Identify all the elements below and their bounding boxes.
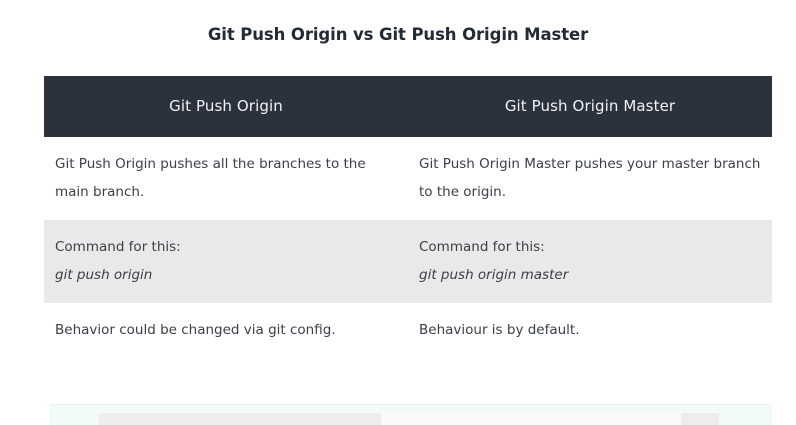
table-cell-description-left: Git Push Origin pushes all the branches … — [44, 137, 408, 220]
table-row: Command for this: git push origin Comman… — [44, 220, 772, 303]
page-root: Git Push Origin vs Git Push Origin Maste… — [0, 0, 796, 425]
command-code-right: git push origin master — [419, 261, 761, 289]
table-head: Git Push Origin Git Push Origin Master — [44, 76, 772, 137]
table-row: Git Push Origin pushes all the branches … — [44, 137, 772, 220]
table-cell-behavior-right: Behaviour is by default. — [408, 303, 772, 358]
column-header-git-push-origin: Git Push Origin — [44, 76, 408, 137]
table-row: Behavior could be changed via git config… — [44, 303, 772, 358]
table-cell-command-right: Command for this: git push origin master — [408, 220, 772, 303]
table-body: Git Push Origin pushes all the branches … — [44, 137, 772, 358]
table-cell-command-left: Command for this: git push origin — [44, 220, 408, 303]
table-header-row: Git Push Origin Git Push Origin Master — [44, 76, 772, 137]
table-cell-description-right: Git Push Origin Master pushes your maste… — [408, 137, 772, 220]
command-code-left: git push origin — [55, 261, 397, 289]
command-label-left: Command for this: — [55, 233, 397, 261]
table-cell-behavior-left: Behavior could be changed via git config… — [44, 303, 408, 358]
column-header-git-push-origin-master: Git Push Origin Master — [408, 76, 772, 137]
footer-panel-band-light — [381, 413, 681, 425]
comparison-table: Git Push Origin Git Push Origin Master G… — [44, 76, 772, 358]
footer-panel — [50, 404, 772, 425]
page-title: Git Push Origin vs Git Push Origin Maste… — [0, 24, 796, 46]
command-label-right: Command for this: — [419, 233, 761, 261]
